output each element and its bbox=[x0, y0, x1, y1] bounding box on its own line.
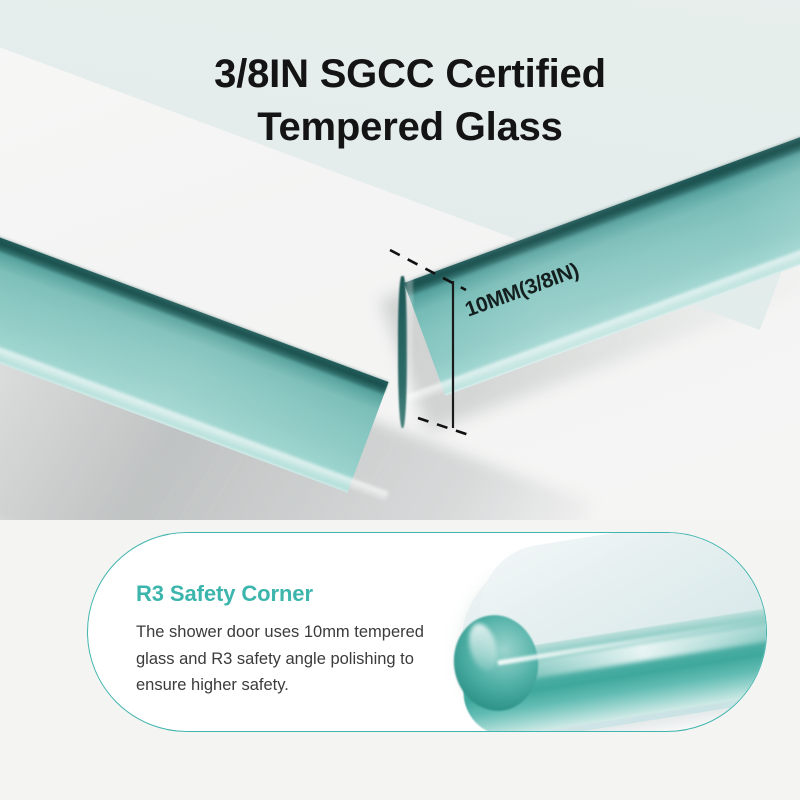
leader-line-top bbox=[390, 250, 466, 290]
page-title: 3/8IN SGCC Certified Tempered Glass bbox=[150, 48, 670, 154]
hero-glass-photo: 10MM(3/8IN) 3/8IN SGCC Certified Tempere… bbox=[0, 0, 800, 520]
feature-card-r3-safety-corner: R3 Safety Corner The shower door uses 10… bbox=[87, 532, 767, 732]
feature-card-text-block: R3 Safety Corner The shower door uses 10… bbox=[136, 581, 466, 699]
feature-card-title: R3 Safety Corner bbox=[136, 581, 466, 607]
leader-line-bottom bbox=[418, 418, 472, 436]
feature-card-body: The shower door uses 10mm tempered glass… bbox=[136, 619, 466, 699]
rounded-corner-glass-photo bbox=[418, 532, 767, 732]
product-feature-image: 10MM(3/8IN) 3/8IN SGCC Certified Tempere… bbox=[0, 0, 800, 800]
